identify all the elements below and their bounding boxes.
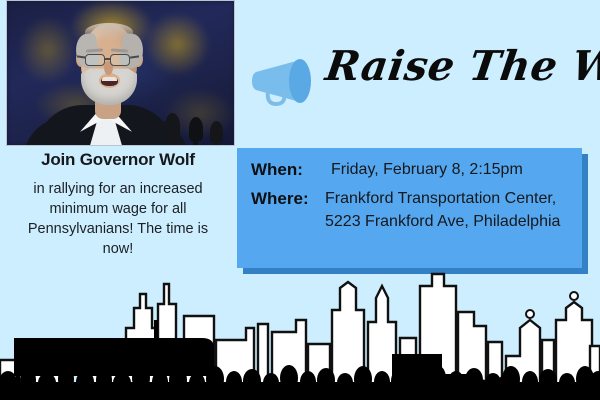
microphone-stem-2 <box>193 136 198 146</box>
microphone-stem-3 <box>214 139 219 146</box>
when-value: Friday, February 8, 2:15pm <box>325 158 523 181</box>
photo-glasses-bridge <box>105 58 110 60</box>
event-details-panel: When: Friday, February 8, 2:15pm Where: … <box>237 148 582 268</box>
where-label: Where: <box>251 187 325 212</box>
raise-the-wage-header: Raise The Wage! <box>252 46 596 118</box>
where-row: Where: Frankford Transportation Center, … <box>251 187 570 233</box>
photo-teeth <box>102 77 117 81</box>
photo-glasses-right <box>110 54 130 66</box>
left-copy-block: Join Governor Wolf in rallying for an in… <box>0 150 236 259</box>
microphone-stem-1 <box>170 133 175 146</box>
protest-crowd-silhouette <box>0 356 600 400</box>
when-label: When: <box>251 158 325 183</box>
megaphone-icon <box>252 54 334 110</box>
governor-photo <box>6 0 235 146</box>
photo-glasses-left <box>85 54 105 66</box>
rally-body-text: in rallying for an increased minimum wag… <box>0 179 236 259</box>
join-governor-headline: Join Governor Wolf <box>0 150 236 170</box>
flyer-canvas: Raise The Wage! Join Governor Wolf in ra… <box>0 0 600 400</box>
raise-the-wage-text: Raise The Wage! <box>323 42 600 90</box>
where-value: Frankford Transportation Center, 5223 Fr… <box>325 187 570 233</box>
when-row: When: Friday, February 8, 2:15pm <box>251 158 570 183</box>
